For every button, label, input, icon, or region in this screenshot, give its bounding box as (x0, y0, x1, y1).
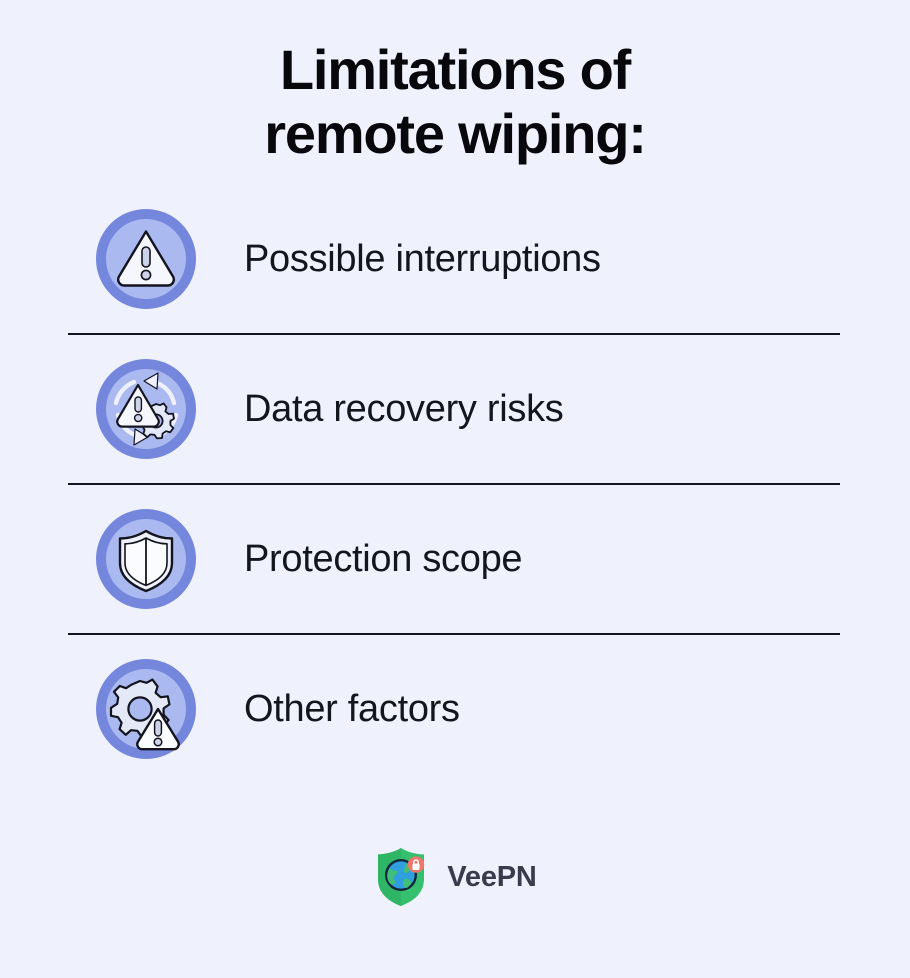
limitations-list: Possible interruptions (0, 185, 910, 783)
shield-icon (94, 507, 198, 611)
veepn-shield-globe-lock-logo (373, 846, 429, 908)
list-item: Protection scope (0, 485, 910, 633)
list-item-label: Data recovery risks (244, 387, 564, 431)
brand-logo: VeePN (0, 846, 910, 908)
warning-triangle-icon (94, 207, 198, 311)
page-title: Limitations of remote wiping: (0, 38, 910, 166)
list-item: Possible interruptions (0, 185, 910, 333)
data-recovery-icon (94, 357, 198, 461)
list-item-label: Protection scope (244, 537, 522, 581)
list-item-label: Other factors (244, 687, 460, 731)
brand-name: VeePN (447, 861, 536, 894)
list-item-label: Possible interruptions (244, 237, 601, 281)
list-item: Data recovery risks (0, 335, 910, 483)
infographic-poster: Limitations of remote wiping: Possible i… (0, 0, 910, 978)
gear-warning-icon (94, 657, 198, 761)
list-item: Other factors (0, 635, 910, 783)
